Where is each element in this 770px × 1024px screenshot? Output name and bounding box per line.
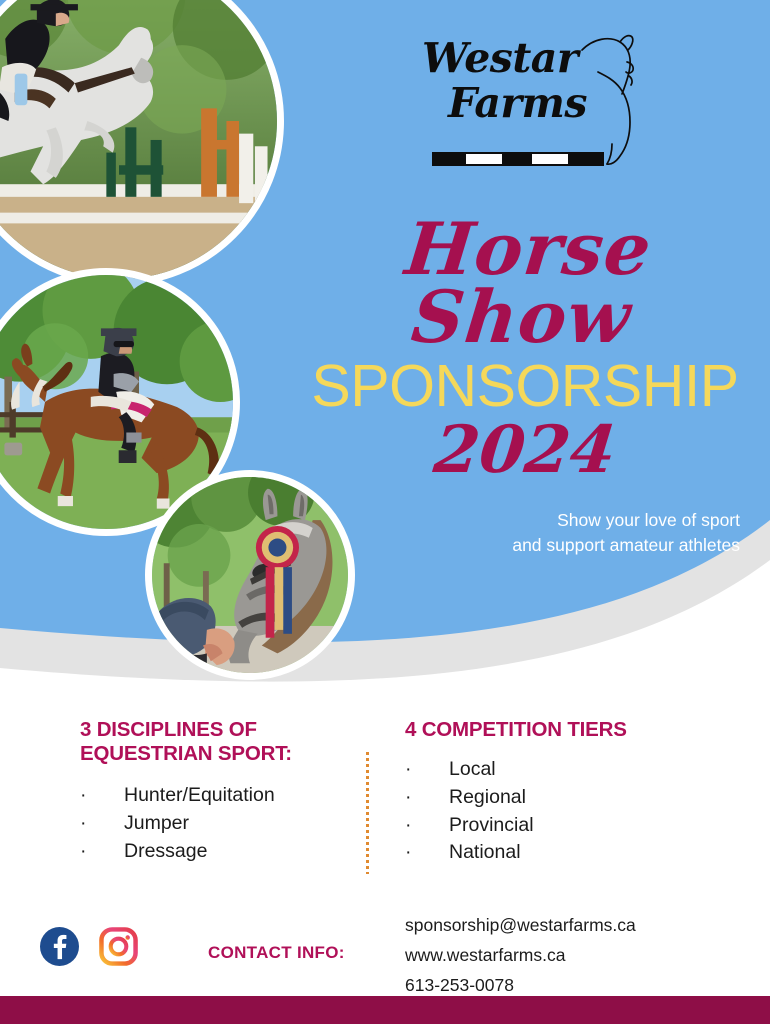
footer-bar [0, 996, 770, 1024]
disciplines-list: ·Hunter/Equitation ·Jumper ·Dressage [80, 782, 355, 865]
tiers-heading: 4 COMPETITION TIERS [405, 718, 705, 742]
logo-line-1: Westar [422, 38, 605, 79]
list-item-label: Dressage [124, 840, 207, 862]
jump-rail-bar-icon [432, 152, 604, 166]
title-horse-show: Horse Show [293, 215, 757, 352]
list-item: ·Jumper [80, 810, 355, 838]
info-columns: 3 DISCIPLINES OF EQUESTRIAN SPORT: ·Hunt… [0, 718, 770, 893]
hero-tagline: Show your love of sport and support amat… [380, 508, 740, 559]
title-sponsorship: SPONSORSHIP [300, 356, 750, 416]
facebook-icon[interactable] [40, 927, 79, 966]
bullet-glyph: · [80, 782, 87, 810]
list-item: ·Regional [405, 784, 705, 812]
list-item: ·Dressage [80, 838, 355, 866]
bullet-glyph: · [80, 838, 87, 866]
bullet-glyph: · [405, 756, 412, 784]
westar-farms-logo: Westar Farms [420, 38, 630, 178]
instagram-icon[interactable] [99, 927, 138, 966]
list-item-label: National [449, 841, 521, 863]
bullet-glyph: · [405, 784, 412, 812]
column-divider [366, 752, 369, 874]
logo-wordmark: Westar Farms [420, 38, 605, 124]
hero-title-block: Horse Show SPONSORSHIP 2024 [300, 215, 750, 483]
contact-details: sponsorship@westarfarms.ca www.westarfar… [405, 910, 636, 1000]
tagline-line-2: and support amateur athletes [380, 533, 740, 558]
contact-section: CONTACT INFO: sponsorship@westarfarms.ca… [0, 905, 770, 990]
disciplines-heading: 3 DISCIPLINES OF EQUESTRIAN SPORT: [80, 718, 325, 766]
social-links [40, 927, 138, 966]
bullet-glyph: · [405, 839, 412, 867]
tiers-list: ·Local ·Regional ·Provincial ·National [405, 756, 705, 867]
disciplines-column: 3 DISCIPLINES OF EQUESTRIAN SPORT: ·Hunt… [80, 718, 355, 865]
tagline-line-1: Show your love of sport [380, 508, 740, 533]
horse-head-outline-icon [580, 32, 638, 172]
list-item: ·Local [405, 756, 705, 784]
ribbon-horse-photo [145, 470, 355, 680]
list-item-label: Hunter/Equitation [124, 784, 275, 806]
list-item-label: Local [449, 758, 496, 780]
tiers-column: 4 COMPETITION TIERS ·Local ·Regional ·Pr… [405, 718, 705, 867]
bullet-glyph: · [405, 812, 412, 840]
list-item-label: Provincial [449, 814, 534, 836]
contact-info-label: CONTACT INFO: [208, 943, 345, 963]
contact-website[interactable]: www.westarfarms.ca [405, 940, 636, 970]
bullet-glyph: · [80, 810, 87, 838]
list-item-label: Jumper [124, 812, 189, 834]
list-item: ·Provincial [405, 812, 705, 840]
list-item-label: Regional [449, 786, 526, 808]
list-item: ·National [405, 839, 705, 867]
list-item: ·Hunter/Equitation [80, 782, 355, 810]
poster-canvas: Westar Farms Horse Show SPONSORSHIP 2024… [0, 0, 770, 1024]
title-year: 2024 [297, 418, 754, 483]
contact-email[interactable]: sponsorship@westarfarms.ca [405, 910, 636, 940]
